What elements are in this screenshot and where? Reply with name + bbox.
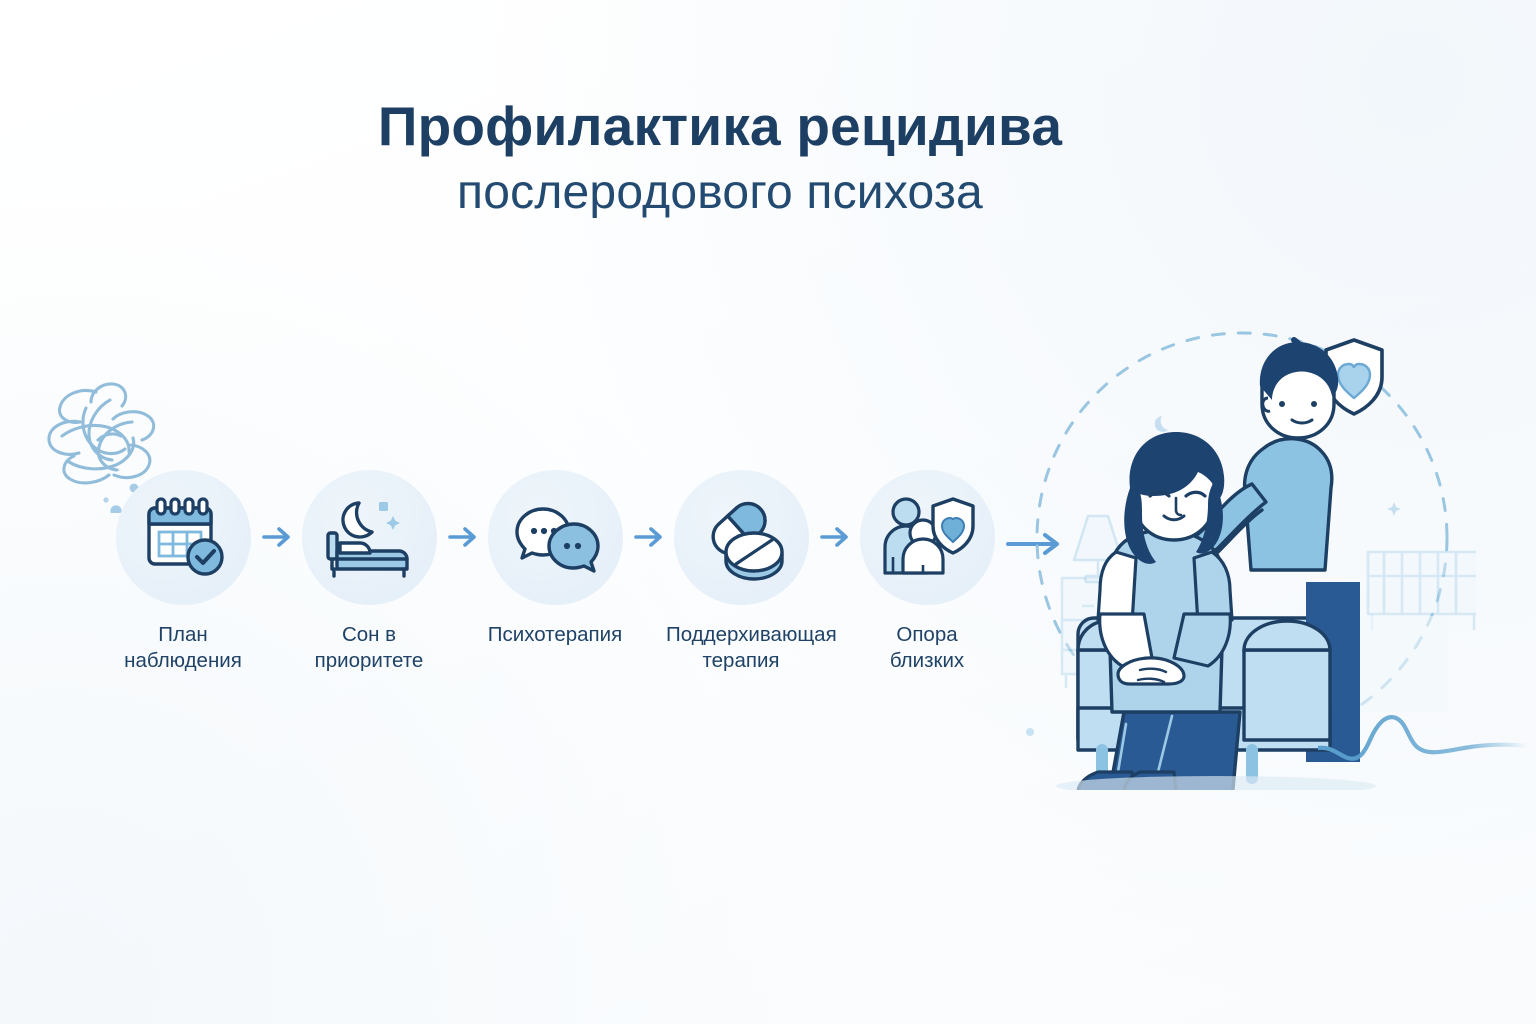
step-item-4[interactable]: Поддерхивающая терапия (666, 470, 816, 674)
arrow-right-icon-4 (818, 522, 852, 552)
arrow-right-icon-3 (632, 522, 666, 552)
step-icon-circle-5 (860, 470, 995, 605)
pills-icon (695, 494, 787, 582)
step-label-4: Поддерхивающая терапия (666, 622, 816, 674)
step-item-2[interactable]: Сон в приоритете (294, 470, 444, 674)
sparkle (1387, 502, 1401, 516)
step-icon-circle-2 (302, 470, 437, 605)
step-item-1[interactable]: План наблюдения (108, 470, 258, 674)
step-label-3: Психотерапия (480, 622, 630, 648)
step-item-3[interactable]: Психотерапия (480, 470, 630, 648)
speech-bubbles-icon (509, 498, 601, 578)
step-label-5: Опора близких (852, 622, 1002, 674)
page-title: Профилактика рецидива послеродового псих… (0, 98, 1440, 221)
step-icon-circle-1 (116, 470, 251, 605)
arrow-right-icon-2 (446, 522, 480, 552)
wavy-line (1318, 690, 1528, 785)
step-label-2: Сон в приоритете (294, 622, 444, 674)
family-shield-icon (879, 495, 975, 581)
step-icon-circle-4 (674, 470, 809, 605)
prevention-steps-row: План наблюдения (108, 470, 1033, 685)
title-line-secondary: послеродового психоза (0, 165, 1440, 222)
step-icon-circle-3 (488, 470, 623, 605)
bed-moon-icon (322, 495, 416, 581)
crescent-moon (1155, 416, 1168, 432)
infographic-canvas: Профилактика рецидива послеродового псих… (0, 0, 1536, 1024)
step-label-1: План наблюдения (108, 622, 258, 674)
arrow-right-icon-1 (260, 522, 294, 552)
title-line-primary: Профилактика рецидива (0, 98, 1440, 156)
step-item-5[interactable]: Опора близких (852, 470, 1002, 674)
calendar-check-icon (137, 494, 229, 582)
